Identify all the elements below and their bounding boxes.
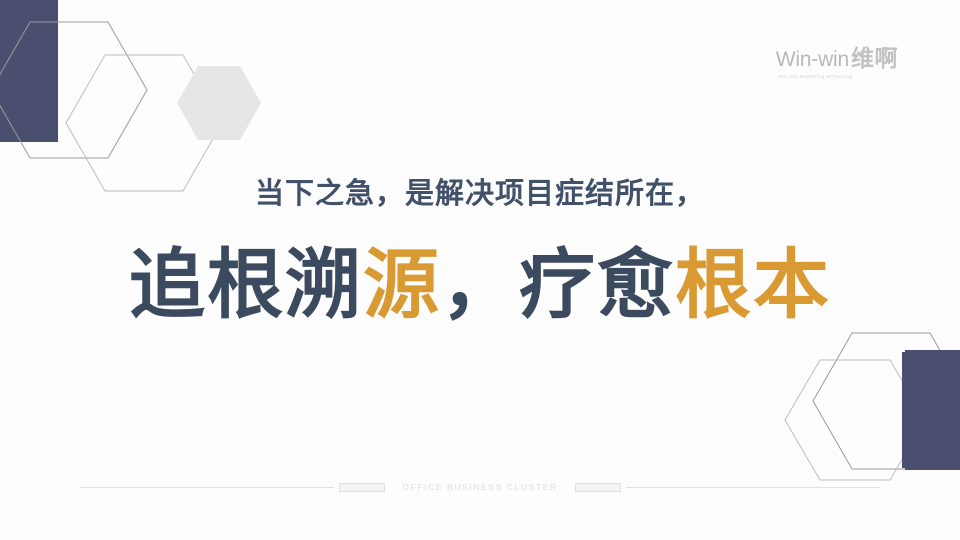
navy-hexagon-top-left <box>0 0 55 140</box>
footer-bar-left <box>339 483 385 492</box>
outline-hexagon-bottom-a <box>813 333 960 469</box>
headline-block: 当下之急，是解决项目症结所在， 追根溯源，疗愈根本 <box>0 176 960 326</box>
brand-logo-tagline: Win-win Marketing &Planning <box>778 75 853 80</box>
navy-hexagon-bottom-right-cap <box>902 352 960 468</box>
headline-title-segment-2: ，疗愈 <box>441 240 675 329</box>
footer-rule-left <box>80 487 334 488</box>
outline-hexagon-top-b <box>66 55 222 191</box>
footer-label: OFFICE BUSINESS CLUSTER <box>402 482 557 492</box>
brand-logo: Win-win 维啊 Win-win Marketing &Planning <box>776 48 898 80</box>
outline-hexagon-bottom-b <box>785 360 925 480</box>
brand-logo-chinese: 维啊 <box>851 48 898 71</box>
footer-ornament: OFFICE BUSINESS CLUSTER <box>80 479 880 495</box>
headline-title-accent-2: 根本 <box>675 240 831 329</box>
slide-canvas: Win-win 维啊 Win-win Marketing &Planning 当… <box>0 0 960 540</box>
brand-logo-latin: Win-win <box>776 49 849 70</box>
navy-hexagon-bottom-right <box>905 350 960 470</box>
brand-logo-row: Win-win 维啊 <box>776 48 898 71</box>
gray-hexagon-top <box>177 66 261 140</box>
headline-title-accent-1: 源 <box>363 240 441 329</box>
headline-subtitle: 当下之急，是解决项目症结所在， <box>0 176 960 211</box>
navy-hexagon-top-left-cap <box>0 0 58 142</box>
outline-hexagon-top-a <box>0 22 147 158</box>
headline-title: 追根溯源，疗愈根本 <box>0 243 960 327</box>
footer-rule-right <box>626 487 880 488</box>
headline-title-segment-1: 追根溯 <box>129 240 363 329</box>
footer-bar-right <box>575 483 621 492</box>
